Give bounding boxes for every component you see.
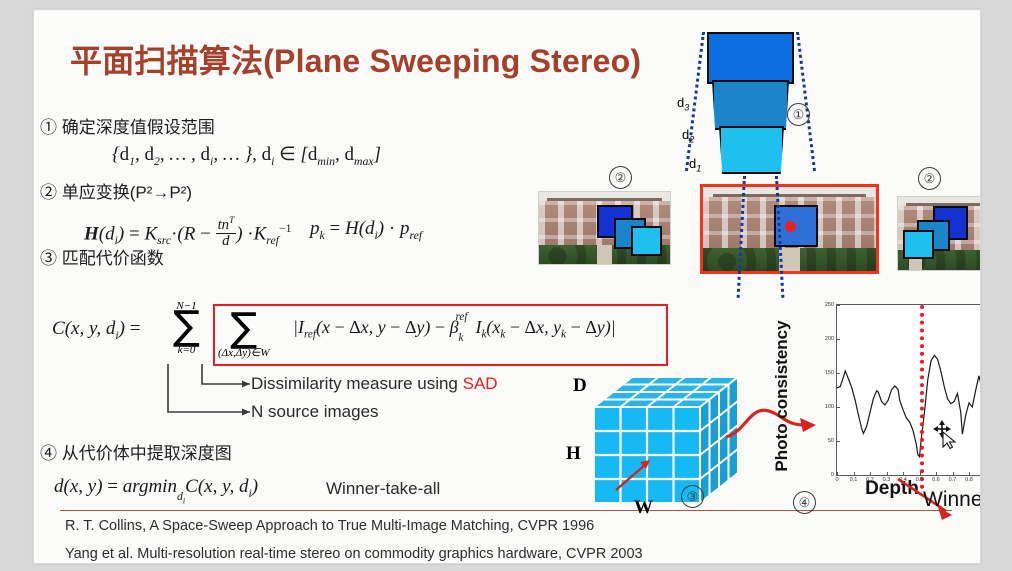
formula-depth-set: {d1, d2, … , di, … }, di ∈ [dmin, dmax] <box>112 143 381 169</box>
sweep-plane-d1 <box>719 126 784 174</box>
step-2: ② 单应变换(P²→P²) <box>40 178 192 203</box>
cost-volume-cube <box>590 373 742 508</box>
cube-label-depth: D <box>573 375 587 397</box>
chart-y-tick-mark <box>837 475 840 476</box>
reference-1: R. T. Collins, A Space-Sweep Approach to… <box>65 518 594 534</box>
chart-y-tick: 150 <box>825 370 834 376</box>
step-1-marker: ① <box>40 118 57 137</box>
reference-point <box>785 221 796 232</box>
label-d3: d3 <box>677 95 689 113</box>
cube-svg <box>590 373 742 508</box>
chart-y-tick-mark <box>837 305 840 306</box>
chart-y-tick-mark <box>837 339 840 340</box>
sweep-plane-d2 <box>712 80 789 130</box>
step-1-label: 确定深度值假设范围 <box>62 118 215 137</box>
annotation-sad: SAD <box>463 374 498 393</box>
chart-y-axis-label: Photo consistency <box>772 320 792 471</box>
reference-photo <box>700 184 879 274</box>
chart-x-tick-mark <box>870 472 871 475</box>
source-patch-c <box>631 226 663 256</box>
chart-x-tick-mark <box>920 472 921 475</box>
marker-2-right: ② <box>918 167 941 190</box>
marker-2-left: ② <box>609 166 632 189</box>
cost-function-highlight-box <box>213 304 668 366</box>
chart-y-tick: 200 <box>825 336 834 342</box>
chart-plot-area: 050100150200250 00.10.20.30.40.50.60.70.… <box>836 304 981 476</box>
frustum-ray-right <box>796 32 816 171</box>
step-4: ④ 从代价体中提取深度图 <box>40 439 232 464</box>
marker-3: ③ <box>681 485 704 508</box>
step-2-label: 单应变换(P²→P²) <box>62 183 192 202</box>
reference-2: Yang et al. Multi-resolution real-time s… <box>65 546 643 562</box>
marker-4: ④ <box>793 491 816 514</box>
page-title: 平面扫描算法(Plane Sweeping Stereo) <box>70 36 641 82</box>
label-d2: d2 <box>682 127 694 145</box>
chart-x-tick-mark <box>837 472 838 475</box>
photo-path <box>597 245 613 264</box>
chart-x-tick: 0.8 <box>965 477 973 483</box>
annotation-winner-take-all: Winner-take-all <box>326 479 440 499</box>
cube-label-width: W <box>634 497 653 519</box>
chart-y-tick: 100 <box>825 404 834 410</box>
chart-y-tick-mark <box>837 373 840 374</box>
chart-x-tick-mark <box>887 472 888 475</box>
step-4-marker: ④ <box>40 444 57 463</box>
chart-x-tick-mark <box>854 472 855 475</box>
formula-argmin: d(x, y) = argmindiC(x, y, di) <box>54 476 258 502</box>
chart-winner-vline <box>920 305 924 489</box>
chart-y-tick: 0 <box>831 472 834 478</box>
annotation-dissimilarity-prefix: Dissimilarity measure using <box>251 374 463 393</box>
marker-1: ① <box>787 103 810 126</box>
source-photo-left <box>538 191 671 265</box>
chart-y-tick-mark <box>837 407 840 408</box>
label-d1: d1 <box>689 156 701 174</box>
chart-x-tick-mark <box>953 472 954 475</box>
step-2-marker: ② <box>40 183 57 202</box>
chart-line-series <box>837 305 981 475</box>
chart-y-tick: 250 <box>825 302 834 308</box>
chart-x-tick-mark <box>969 472 970 475</box>
slide-canvas: 平面扫描算法(Plane Sweeping Stereo) ① 确定深度值假设范… <box>33 9 981 564</box>
step-4-label: 从代价体中提取深度图 <box>62 444 232 463</box>
annotation-dissimilarity: Dissimilarity measure using SAD <box>251 374 498 394</box>
step-3-label: 匹配代价函数 <box>62 249 164 268</box>
winner-label: Winner <box>923 488 981 512</box>
formula-cost-lhs: C(x, y, di) = <box>52 318 140 343</box>
cube-label-height: H <box>566 443 581 465</box>
step-3: ③ 匹配代价函数 <box>40 244 164 269</box>
source-photo-right <box>897 196 981 271</box>
sweep-plane-d3 <box>707 32 794 84</box>
chart-y-tick-mark <box>837 441 840 442</box>
move-cursor <box>932 419 958 445</box>
formula-projection: pk = H(di) · pref <box>310 218 422 243</box>
annotation-n-source: N source images <box>251 402 379 422</box>
chart-x-tick-mark <box>903 472 904 475</box>
chart-x-tick-mark <box>936 472 937 475</box>
chart-y-tick: 50 <box>828 438 834 444</box>
chart-x-tick: 0 <box>835 477 838 483</box>
chart-x-tick: 0.1 <box>850 477 858 483</box>
source-patch-c <box>903 230 934 260</box>
cost-sum-outer: N−1 ∑ k=0 <box>173 300 200 356</box>
step-1: ① 确定深度值假设范围 <box>40 113 215 138</box>
step-3-marker: ③ <box>40 249 57 268</box>
